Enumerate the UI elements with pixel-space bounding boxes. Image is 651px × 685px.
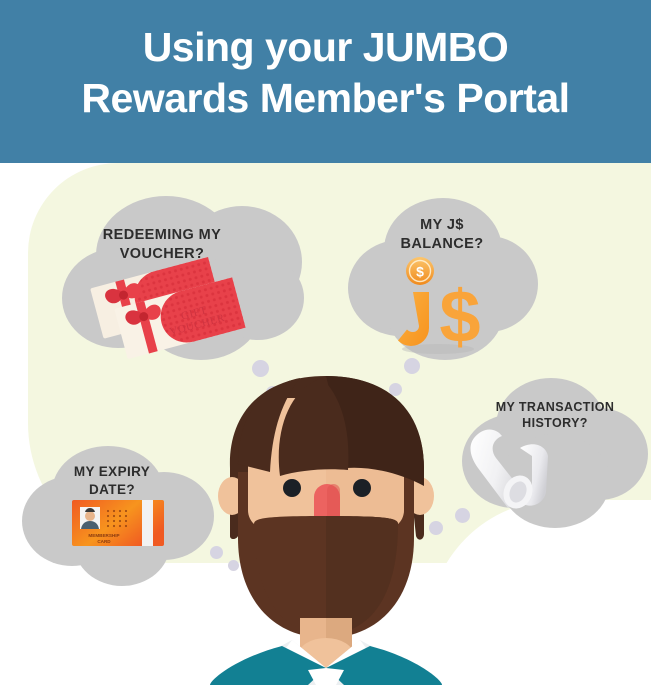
- page-title-line-1: Using your JUMBO: [0, 22, 651, 73]
- gift-voucher-icon: GIFT VOUCHER: [86, 252, 258, 364]
- bearded-man-illustration: [196, 368, 456, 685]
- svg-text:$: $: [416, 264, 424, 280]
- header-banner: Using your JUMBO Rewards Member's Portal: [0, 0, 651, 163]
- thought-bubble-expiry-label: MY EXPIRY DATE?: [22, 463, 202, 499]
- page-title-line-2: Rewards Member's Portal: [0, 73, 651, 124]
- jumbo-dollar-logo-icon: $ $: [390, 252, 486, 358]
- receipt-roll-icon: [468, 420, 572, 518]
- thought-bubble-balance-label: MY J$ BALANCE?: [352, 216, 532, 254]
- svg-text:$: $: [439, 275, 480, 358]
- membership-card-icon: MEMBERSHIP CARD: [72, 498, 164, 548]
- svg-text:MEMBERSHIP: MEMBERSHIP: [88, 533, 119, 538]
- page-title: Using your JUMBO Rewards Member's Portal: [0, 22, 651, 124]
- poster-canvas: Using your JUMBO Rewards Member's Portal…: [0, 0, 651, 685]
- svg-text:CARD: CARD: [97, 539, 111, 544]
